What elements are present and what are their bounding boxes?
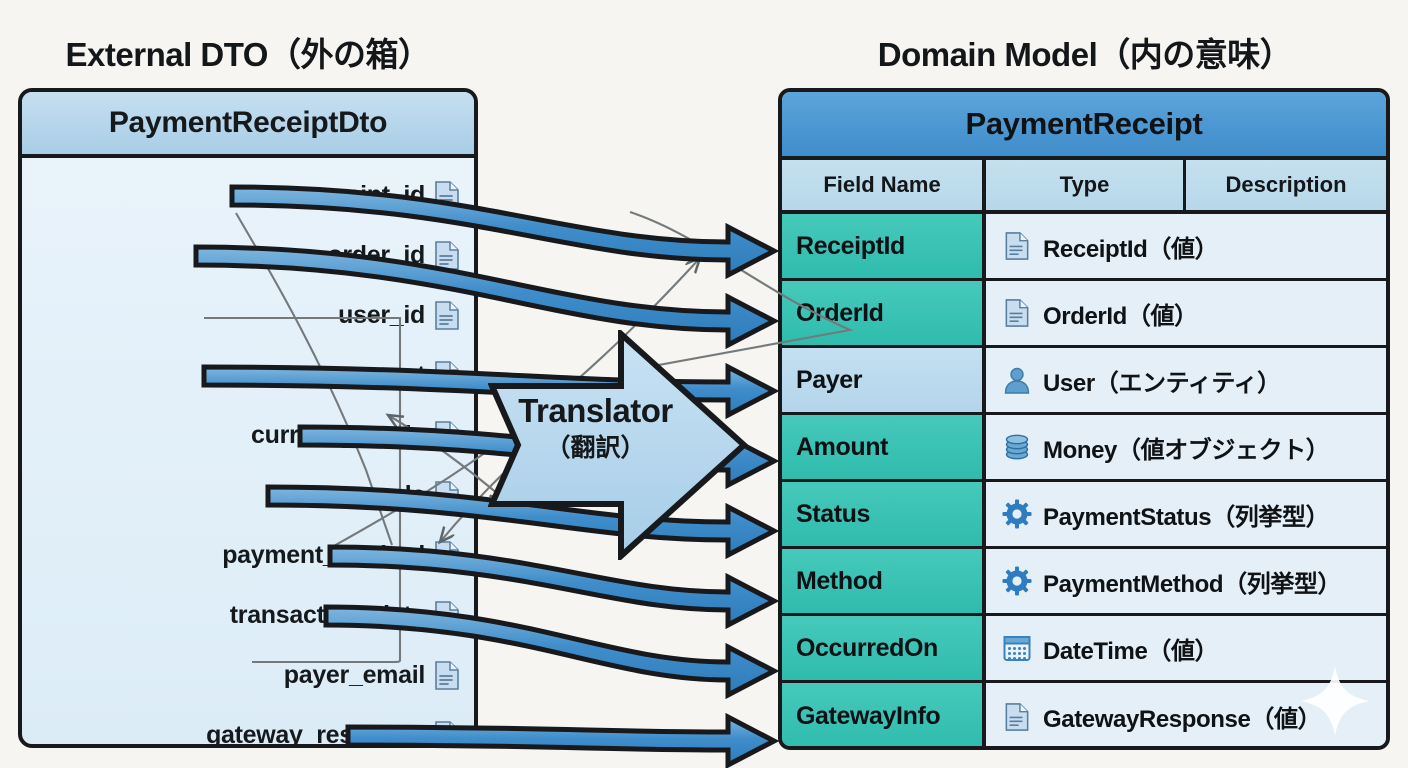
translator-shape: Translator （翻訳）: [488, 330, 748, 560]
translator-arrow-icon: [488, 330, 748, 560]
mapping-arrow-gateway-response-to-gatewayinfo: [348, 717, 774, 765]
mapping-arrow-transaction-date-to-occurredon: [326, 607, 774, 695]
diagram-canvas: External DTO（外の箱） Domain Model（内の意味） Pay…: [0, 0, 1408, 768]
